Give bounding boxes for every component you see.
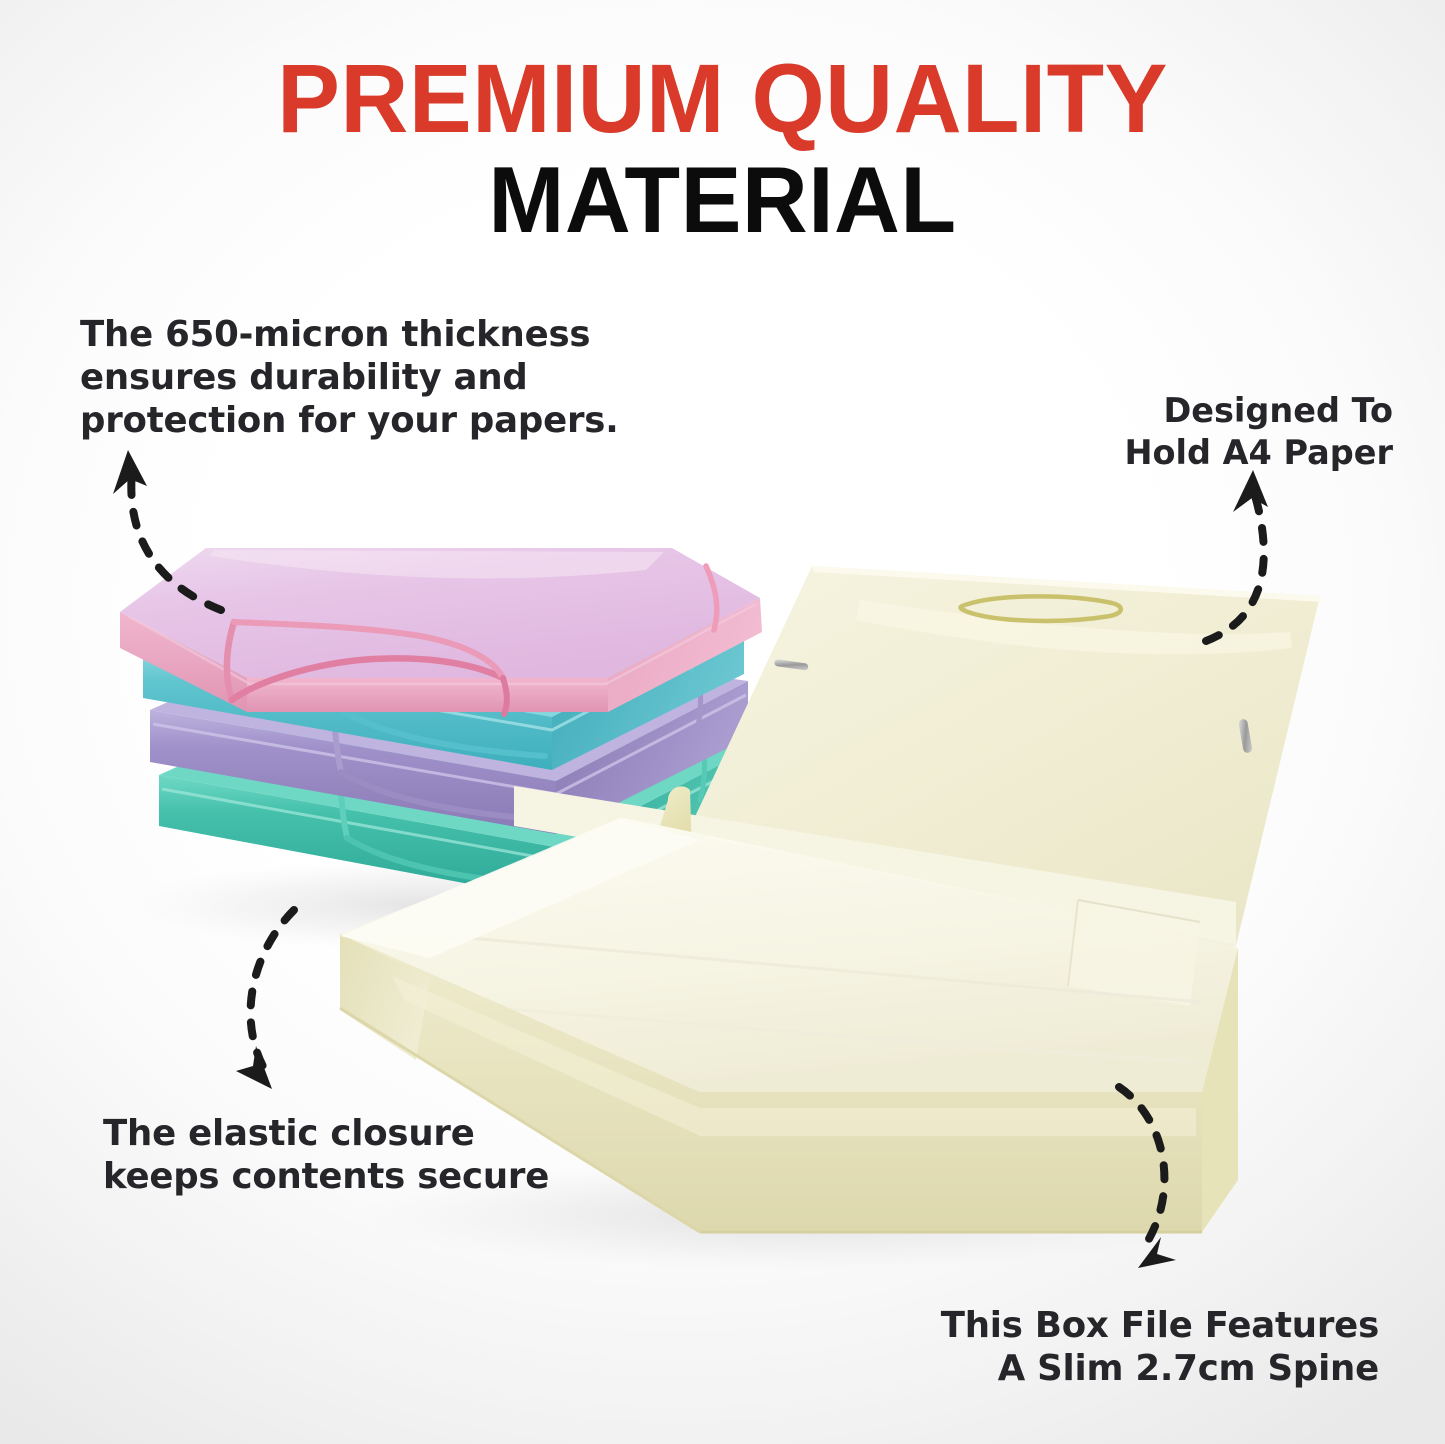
callout-slim-spine: This Box File Features A Slim 2.7cm Spin… bbox=[759, 1305, 1379, 1391]
page-title: PREMIUM QUALITY MATERIAL bbox=[0, 52, 1445, 245]
infographic-canvas: PREMIUM QUALITY MATERIAL The 650-micron … bbox=[0, 0, 1445, 1444]
callout-thickness: The 650-micron thickness ensures durabil… bbox=[80, 314, 760, 443]
headline-line-1: PREMIUM QUALITY bbox=[22, 52, 1424, 146]
headline-line-2: MATERIAL bbox=[22, 154, 1424, 245]
callout-a4-paper: Designed To Hold A4 Paper bbox=[973, 390, 1393, 474]
callout-elastic-closure: The elastic closure keeps contents secur… bbox=[103, 1113, 703, 1199]
